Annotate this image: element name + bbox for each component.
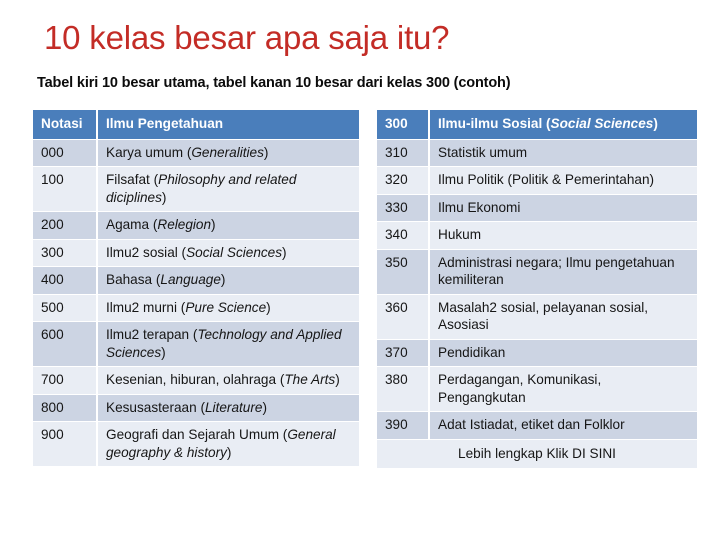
table-row: 500Ilmu2 murni (Pure Science) bbox=[33, 294, 359, 322]
cell-subject-tail: ) bbox=[262, 400, 267, 415]
cell-notation: 200 bbox=[33, 212, 97, 240]
cell-notation: 900 bbox=[33, 422, 97, 467]
column-header-social-sciences: Ilmu-ilmu Sosial (Social Sciences) bbox=[429, 110, 697, 139]
cell-subject: Ilmu Politik (Politik & Pemerintahan) bbox=[429, 167, 697, 195]
cell-subject: Perdagangan, Komunikasi, Pengangkutan bbox=[429, 367, 697, 412]
cell-subject: Ilmu Ekonomi bbox=[429, 194, 697, 222]
cell-subject-italic: Social Sciences bbox=[186, 245, 282, 260]
cell-subject-plain: Adat Istiadat, etiket dan Folklor bbox=[438, 417, 625, 432]
header-tail-text: ) bbox=[653, 116, 658, 131]
cell-notation: 310 bbox=[377, 139, 429, 167]
table-row: 000Karya umum (Generalities) bbox=[33, 139, 359, 167]
cell-notation: 330 bbox=[377, 194, 429, 222]
more-info-link[interactable]: Lebih lengkap Klik DI SINI bbox=[377, 439, 697, 468]
table-right-header: 300 Ilmu-ilmu Sosial (Social Sciences) bbox=[377, 110, 697, 139]
ddc-main-classes-table: Notasi Ilmu Pengetahuan 000Karya umum (G… bbox=[33, 110, 359, 466]
table-row: 360Masalah2 sosial, pelayanan sosial, As… bbox=[377, 294, 697, 339]
cell-subject: Geografi dan Sejarah Umum (General geogr… bbox=[97, 422, 359, 467]
cell-subject: Ilmu2 murni (Pure Science) bbox=[97, 294, 359, 322]
cell-subject-plain: Ilmu2 sosial ( bbox=[106, 245, 186, 260]
cell-subject: Adat Istiadat, etiket dan Folklor bbox=[429, 412, 697, 440]
cell-notation: 500 bbox=[33, 294, 97, 322]
cell-subject: Filsafat (Philosophy and related dicipli… bbox=[97, 167, 359, 212]
column-header-notation-300: 300 bbox=[377, 110, 429, 139]
cell-subject-plain: Ilmu Politik (Politik & Pemerintahan) bbox=[438, 172, 654, 187]
column-header-subject: Ilmu Pengetahuan bbox=[97, 110, 359, 139]
table-row: 800Kesusasteraan (Literature) bbox=[33, 394, 359, 422]
cell-subject-italic: Generalities bbox=[191, 145, 264, 160]
cell-notation: 300 bbox=[33, 239, 97, 267]
cell-notation: 400 bbox=[33, 267, 97, 295]
cell-subject: Statistik umum bbox=[429, 139, 697, 167]
cell-subject: Administrasi negara; Ilmu pengetahuan ke… bbox=[429, 249, 697, 294]
cell-subject-plain: Statistik umum bbox=[438, 145, 527, 160]
cell-subject-plain: Agama ( bbox=[106, 217, 157, 232]
table-row: 300Ilmu2 sosial (Social Sciences) bbox=[33, 239, 359, 267]
cell-subject-tail: ) bbox=[335, 372, 340, 387]
cell-subject-italic: Literature bbox=[205, 400, 262, 415]
table-row: 380Perdagangan, Komunikasi, Pengangkutan bbox=[377, 367, 697, 412]
cell-notation: 380 bbox=[377, 367, 429, 412]
cell-subject-plain: Kesusasteraan ( bbox=[106, 400, 205, 415]
cell-subject: Hukum bbox=[429, 222, 697, 250]
cell-notation: 000 bbox=[33, 139, 97, 167]
table-row: 600Ilmu2 terapan (Technology and Applied… bbox=[33, 322, 359, 367]
table-header-row: 300 Ilmu-ilmu Sosial (Social Sciences) bbox=[377, 110, 697, 139]
cell-subject-tail: ) bbox=[221, 272, 226, 287]
cell-subject-plain: Karya umum ( bbox=[106, 145, 191, 160]
table-left-header: Notasi Ilmu Pengetahuan bbox=[33, 110, 359, 139]
cell-notation: 320 bbox=[377, 167, 429, 195]
table-footer-row[interactable]: Lebih lengkap Klik DI SINI bbox=[377, 439, 697, 468]
cell-subject-plain: Hukum bbox=[438, 227, 481, 242]
cell-notation: 340 bbox=[377, 222, 429, 250]
cell-subject-tail: ) bbox=[227, 445, 232, 460]
cell-subject-tail: ) bbox=[266, 300, 271, 315]
column-header-notation: Notasi bbox=[33, 110, 97, 139]
cell-subject-plain: Geografi dan Sejarah Umum ( bbox=[106, 427, 287, 442]
slide-subtitle: Tabel kiri 10 besar utama, tabel kanan 1… bbox=[37, 73, 717, 93]
ddc-class-300-table: 300 Ilmu-ilmu Sosial (Social Sciences) 3… bbox=[377, 110, 697, 468]
page-title: 10 kelas besar apa saja itu? bbox=[44, 18, 704, 58]
cell-subject-plain: Ilmu2 murni ( bbox=[106, 300, 185, 315]
cell-subject: Karya umum (Generalities) bbox=[97, 139, 359, 167]
table-row: 320Ilmu Politik (Politik & Pemerintahan) bbox=[377, 167, 697, 195]
table-header-row: Notasi Ilmu Pengetahuan bbox=[33, 110, 359, 139]
cell-subject-tail: ) bbox=[211, 217, 216, 232]
header-plain-text: Ilmu-ilmu Sosial ( bbox=[438, 116, 551, 131]
table-left-body: 000Karya umum (Generalities)100Filsafat … bbox=[33, 139, 359, 466]
table-right-body: 310Statistik umum320Ilmu Politik (Politi… bbox=[377, 139, 697, 468]
cell-notation: 800 bbox=[33, 394, 97, 422]
table-row: 700Kesenian, hiburan, olahraga (The Arts… bbox=[33, 367, 359, 395]
cell-subject-plain: Pendidikan bbox=[438, 345, 505, 360]
cell-subject-tail: ) bbox=[282, 245, 287, 260]
table-row: 100Filsafat (Philosophy and related dici… bbox=[33, 167, 359, 212]
cell-subject-plain: Filsafat ( bbox=[106, 172, 158, 187]
cell-subject: Agama (Relegion) bbox=[97, 212, 359, 240]
table-row: 350Administrasi negara; Ilmu pengetahuan… bbox=[377, 249, 697, 294]
cell-subject: Pendidikan bbox=[429, 339, 697, 367]
cell-subject-plain: Administrasi negara; Ilmu pengetahuan ke… bbox=[438, 255, 675, 288]
table-row: 200Agama (Relegion) bbox=[33, 212, 359, 240]
cell-notation: 600 bbox=[33, 322, 97, 367]
cell-subject-plain: Perdagangan, Komunikasi, Pengangkutan bbox=[438, 372, 601, 405]
cell-notation: 100 bbox=[33, 167, 97, 212]
slide-canvas: 10 kelas besar apa saja itu? Tabel kiri … bbox=[0, 0, 728, 546]
cell-notation: 370 bbox=[377, 339, 429, 367]
cell-subject-tail: ) bbox=[264, 145, 269, 160]
cell-subject: Ilmu2 sosial (Social Sciences) bbox=[97, 239, 359, 267]
cell-subject: Ilmu2 terapan (Technology and Applied Sc… bbox=[97, 322, 359, 367]
cell-subject-plain: Ilmu Ekonomi bbox=[438, 200, 520, 215]
cell-subject-plain: Kesenian, hiburan, olahraga ( bbox=[106, 372, 284, 387]
cell-subject-plain: Bahasa ( bbox=[106, 272, 160, 287]
cell-subject-italic: Language bbox=[160, 272, 220, 287]
table-row: 370Pendidikan bbox=[377, 339, 697, 367]
cell-subject-italic: Pure Science bbox=[185, 300, 266, 315]
table-row: 340Hukum bbox=[377, 222, 697, 250]
cell-subject-plain: Ilmu2 terapan ( bbox=[106, 327, 197, 342]
cell-subject: Masalah2 sosial, pelayanan sosial, Asosi… bbox=[429, 294, 697, 339]
cell-subject: Bahasa (Language) bbox=[97, 267, 359, 295]
table-row: 400Bahasa (Language) bbox=[33, 267, 359, 295]
table-row: 310Statistik umum bbox=[377, 139, 697, 167]
cell-notation: 350 bbox=[377, 249, 429, 294]
cell-subject-plain: Masalah2 sosial, pelayanan sosial, Asosi… bbox=[438, 300, 648, 333]
cell-subject: Kesenian, hiburan, olahraga (The Arts) bbox=[97, 367, 359, 395]
table-row: 330Ilmu Ekonomi bbox=[377, 194, 697, 222]
cell-subject-italic: Relegion bbox=[157, 217, 211, 232]
cell-subject-italic: The Arts bbox=[284, 372, 335, 387]
cell-subject-tail: ) bbox=[161, 345, 166, 360]
cell-notation: 360 bbox=[377, 294, 429, 339]
table-row: 900Geografi dan Sejarah Umum (General ge… bbox=[33, 422, 359, 467]
header-italic-text: Social Sciences bbox=[551, 116, 654, 131]
cell-subject: Kesusasteraan (Literature) bbox=[97, 394, 359, 422]
cell-subject-tail: ) bbox=[162, 190, 167, 205]
table-row: 390Adat Istiadat, etiket dan Folklor bbox=[377, 412, 697, 440]
cell-notation: 700 bbox=[33, 367, 97, 395]
cell-notation: 390 bbox=[377, 412, 429, 440]
